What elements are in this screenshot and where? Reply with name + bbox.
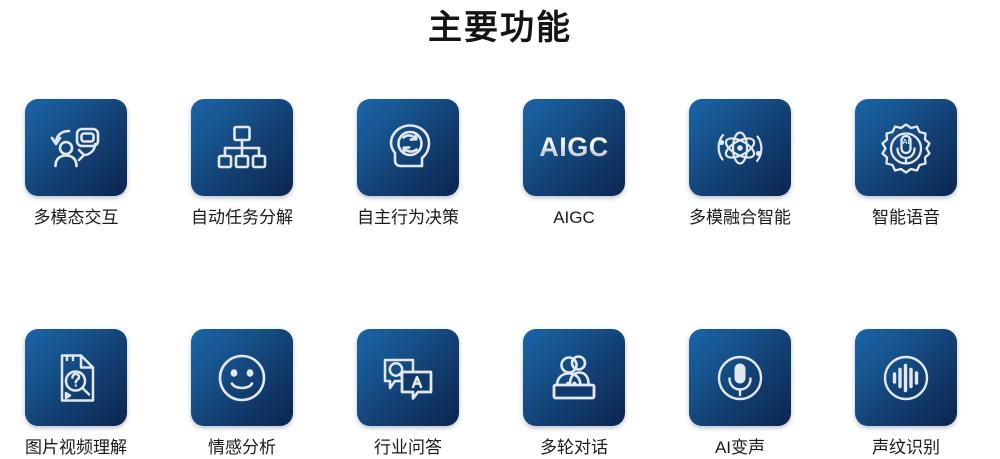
- feature-tile[interactable]: AI: [855, 99, 957, 196]
- svg-text:AI: AI: [902, 137, 910, 146]
- document-magnifier-question-icon: [51, 351, 101, 405]
- feature-label: 行业问答: [374, 437, 442, 459]
- person-screen-exchange-icon: [48, 122, 104, 174]
- feature-label: 智能语音: [872, 207, 940, 229]
- feature-cell-multimodal-fusion[interactable]: 多模融合智能: [689, 99, 791, 229]
- feature-tile[interactable]: [25, 99, 127, 196]
- feature-label: 多轮对话: [540, 437, 608, 459]
- aigc-text-icon: AIGC: [539, 134, 609, 161]
- feature-tile[interactable]: [689, 99, 791, 196]
- feature-overview-page: 主要功能: [0, 0, 1000, 447]
- feature-tile[interactable]: [523, 329, 625, 426]
- voiceprint-waveform-circle-icon: [879, 351, 933, 405]
- feature-tile[interactable]: [25, 329, 127, 426]
- feature-cell-smart-voice[interactable]: AI 智能语音: [855, 99, 957, 229]
- atom-orbit-icon: [712, 121, 768, 175]
- feature-cell-multi-turn-dialogue[interactable]: 多轮对话: [523, 329, 625, 459]
- feature-cell-multimodal-interaction[interactable]: 多模态交互: [25, 99, 127, 229]
- gear-ai-microphone-icon: AI: [879, 121, 933, 175]
- feature-cell-sentiment-analysis[interactable]: 情感分析: [191, 329, 293, 459]
- feature-tile[interactable]: AIGC: [523, 99, 625, 196]
- feature-cell-autonomous-decision[interactable]: 自主行为决策: [357, 99, 459, 229]
- feature-tile[interactable]: [689, 329, 791, 426]
- feature-row-2: 图片视频理解 情感分析: [25, 329, 975, 459]
- page-title: 主要功能: [0, 4, 1000, 52]
- feature-label: AIGC: [553, 207, 595, 229]
- feature-cell-industry-qa[interactable]: 行业问答: [357, 329, 459, 459]
- feature-label: 多模态交互: [34, 207, 119, 229]
- feature-label: 多模融合智能: [689, 207, 791, 229]
- feature-label: 情感分析: [208, 437, 276, 459]
- hierarchy-tree-icon: [216, 123, 268, 173]
- smiley-face-icon: [215, 351, 269, 405]
- feature-label: 自主行为决策: [357, 207, 459, 229]
- feature-cell-image-video-understanding[interactable]: 图片视频理解: [25, 329, 127, 459]
- feature-tile[interactable]: [191, 99, 293, 196]
- feature-label: 自动任务分解: [191, 207, 293, 229]
- feature-cell-task-decomposition[interactable]: 自动任务分解: [191, 99, 293, 229]
- feature-grid: 多模态交互: [25, 99, 975, 459]
- feature-tile[interactable]: [357, 99, 459, 196]
- two-people-dialog-icon: [546, 353, 602, 403]
- qa-speech-bubbles-icon: [380, 353, 436, 403]
- feature-cell-ai-voice-change[interactable]: AI变声: [689, 329, 791, 459]
- head-refresh-cycle-icon: [382, 122, 434, 174]
- feature-cell-voiceprint-recognition[interactable]: 声纹识别: [855, 329, 957, 459]
- feature-cell-aigc[interactable]: AIGC AIGC: [523, 99, 625, 229]
- microphone-circle-icon: [713, 351, 767, 405]
- feature-label: 图片视频理解: [25, 437, 127, 459]
- feature-label: AI变声: [715, 437, 765, 459]
- feature-tile[interactable]: [191, 329, 293, 426]
- feature-tile[interactable]: [357, 329, 459, 426]
- feature-label: 声纹识别: [872, 437, 940, 459]
- feature-tile[interactable]: [855, 329, 957, 426]
- feature-row-1: 多模态交互: [25, 99, 975, 229]
